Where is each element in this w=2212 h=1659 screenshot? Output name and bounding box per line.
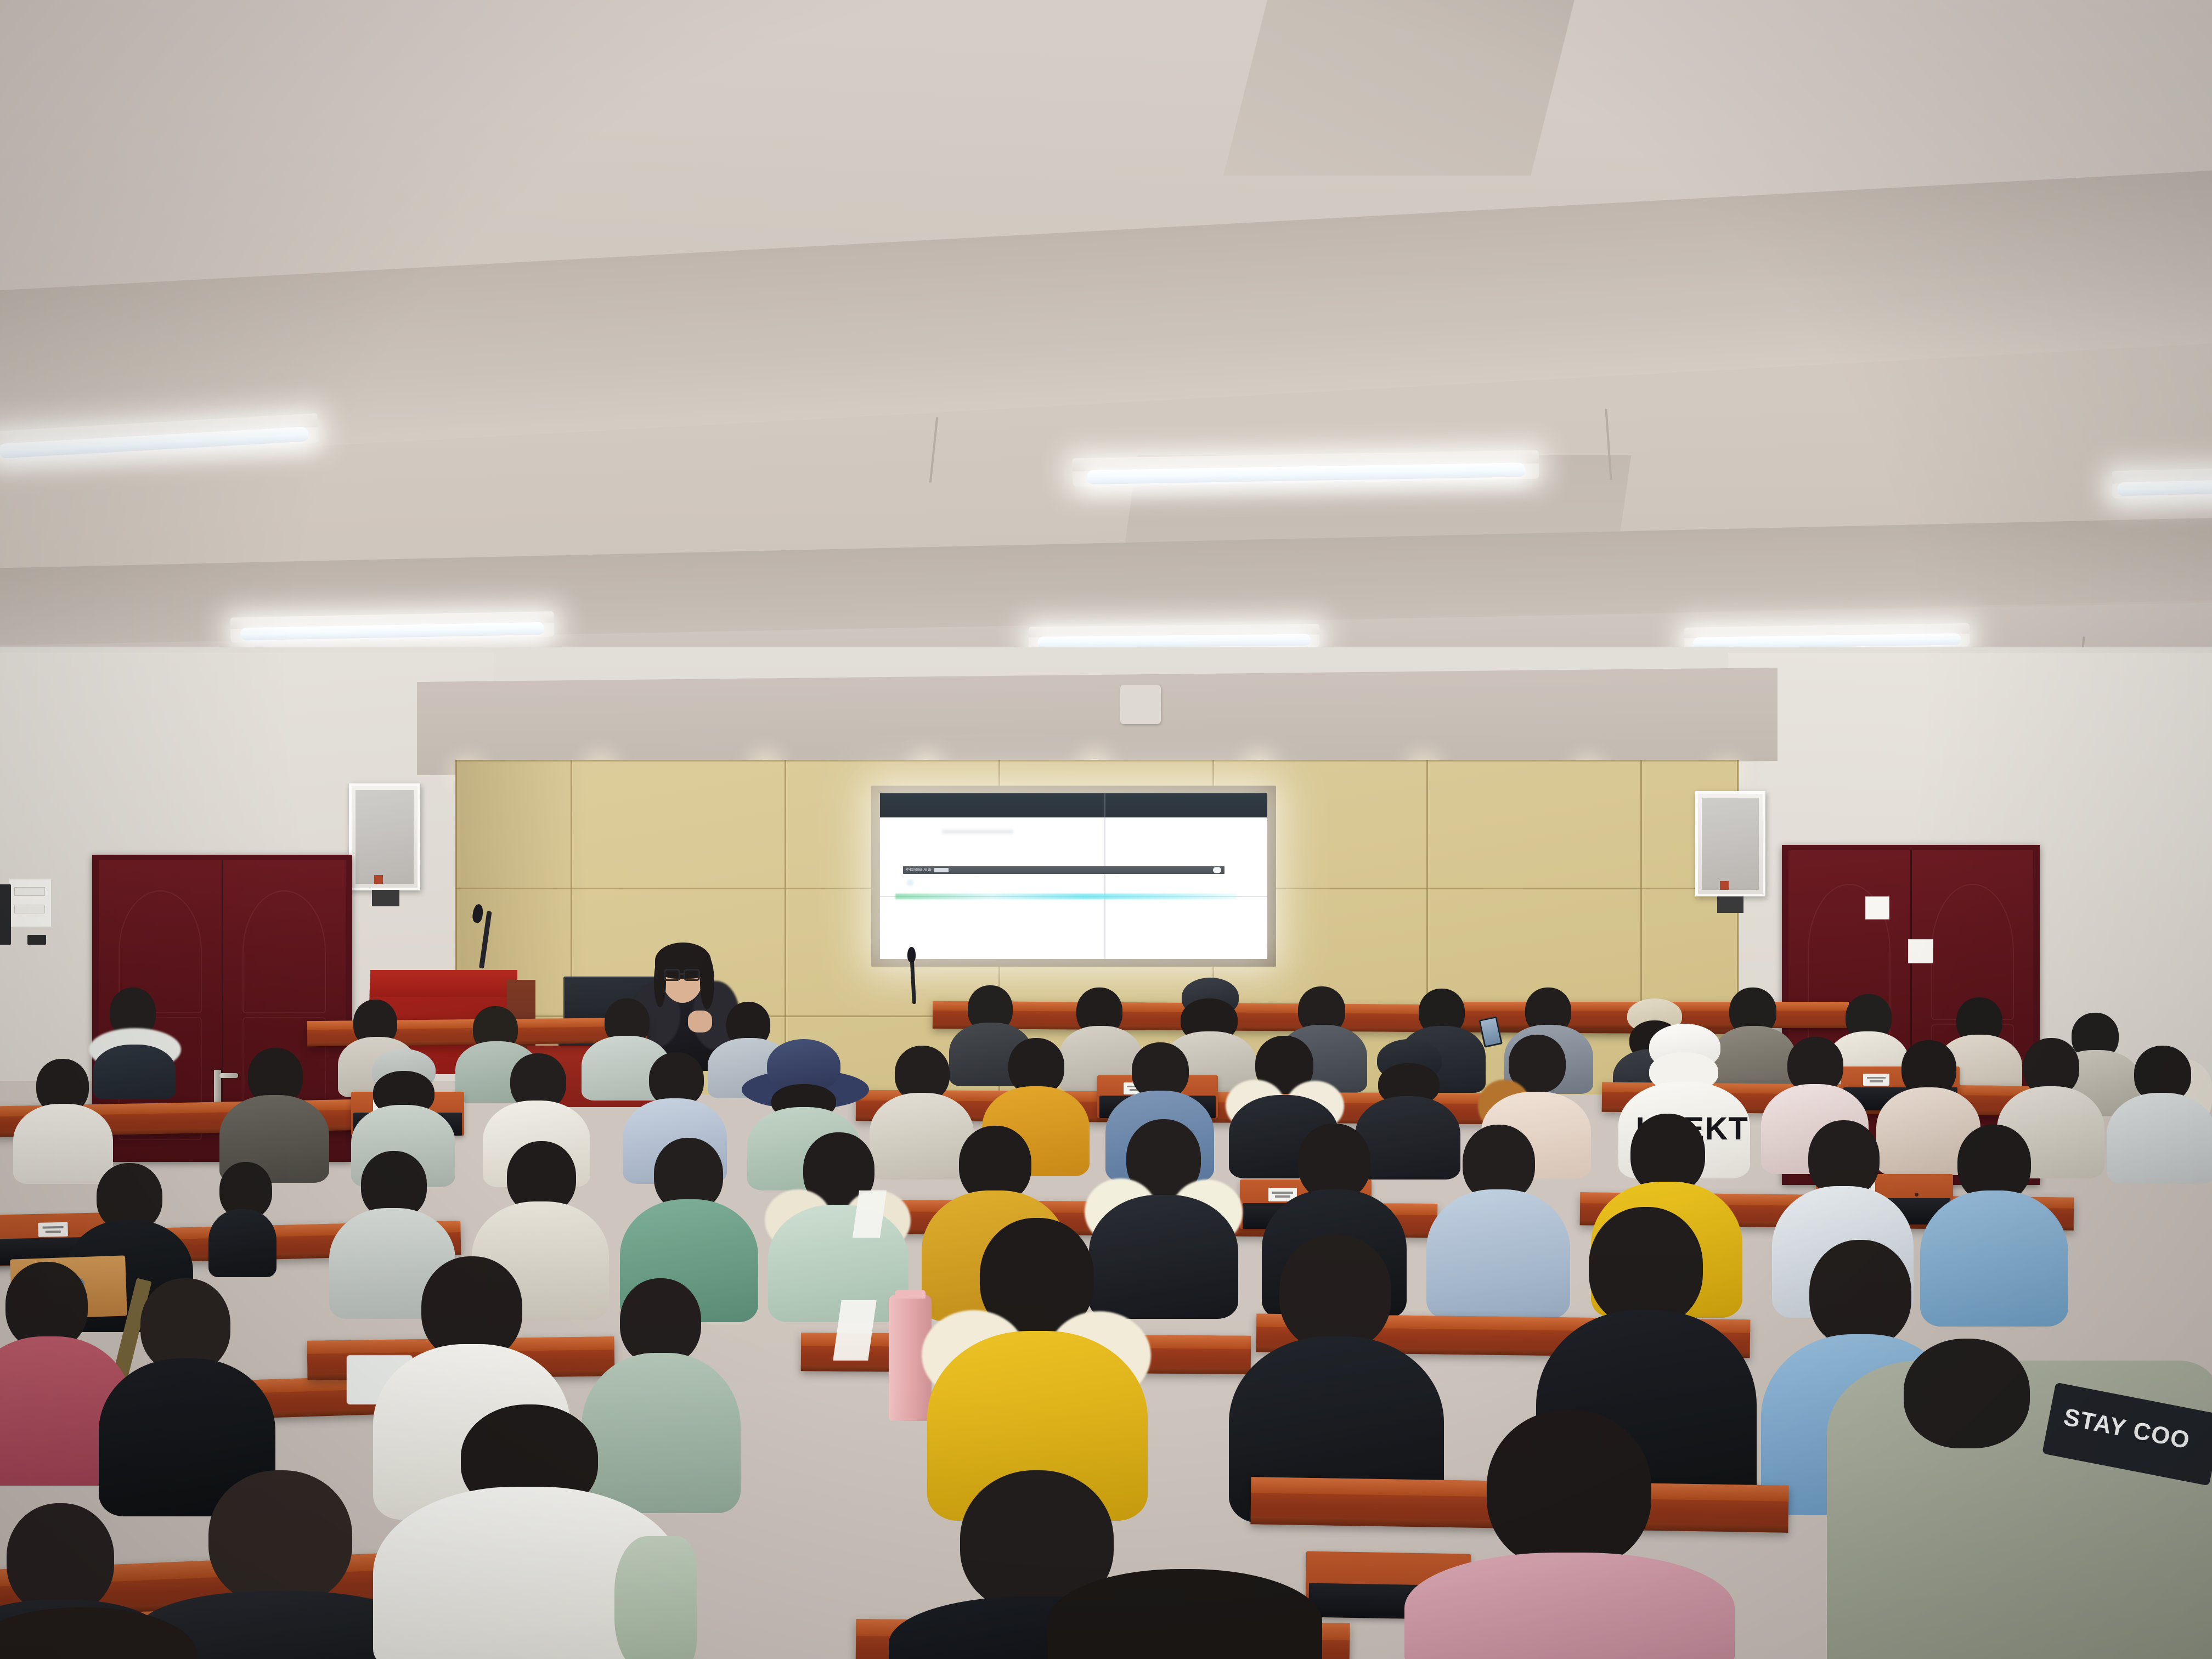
fluorescent-light	[1684, 623, 1970, 651]
fluorescent-light	[2112, 467, 2212, 498]
light-switch-plate-left[interactable]	[9, 879, 52, 927]
fluorescent-light	[1029, 624, 1319, 650]
speaker-mount-right	[1717, 896, 1743, 913]
wall-panel-box-left	[0, 884, 11, 945]
audience-person	[13, 1059, 112, 1180]
ceiling-crack	[929, 417, 939, 483]
sleeve	[614, 1536, 697, 1659]
wall-plate-right[interactable]	[1865, 896, 1889, 919]
audience-person	[768, 1132, 908, 1319]
projected-toolbar-label: 中国知网 检索	[906, 868, 932, 873]
wall-speaker-left	[349, 783, 420, 890]
projected-blue-dot	[907, 879, 913, 886]
audience-person	[373, 1404, 680, 1659]
projected-toolbar: 中国知网 检索	[903, 866, 1224, 874]
projected-faint-text	[942, 830, 1013, 834]
audience-person	[2107, 1046, 2212, 1183]
audience-person	[219, 1048, 329, 1180]
projected-toolbar-knob	[1213, 867, 1221, 873]
audience-person	[927, 1218, 1147, 1514]
projection-screen: 中国知网 检索	[880, 793, 1267, 959]
microphone-head-icon-2	[907, 947, 916, 962]
projected-titlebar	[880, 793, 1267, 817]
audience-person-stay-cool: STAY COO	[1827, 1361, 2212, 1659]
smoke-detector-icon	[1120, 685, 1161, 724]
glasses-icon	[664, 969, 680, 981]
wall-speaker-right	[1695, 791, 1765, 896]
projection-screen-frame: 中国知网 检索	[871, 786, 1276, 967]
speaker-mount-left	[372, 890, 399, 906]
power-outlet-left[interactable]	[27, 935, 46, 945]
projected-accent-strip	[895, 894, 1236, 899]
glasses-icon	[684, 969, 700, 981]
screen-seam-vertical	[1104, 793, 1105, 959]
light-switch-plate-right[interactable]	[1908, 939, 1933, 963]
ceiling-notch	[1223, 0, 1575, 176]
projected-toolbar-chip	[934, 868, 949, 872]
lecture-hall-photo: 中国知网 检索	[0, 0, 2212, 1659]
audience-person	[208, 1162, 274, 1272]
audience-person	[1404, 1410, 1734, 1659]
